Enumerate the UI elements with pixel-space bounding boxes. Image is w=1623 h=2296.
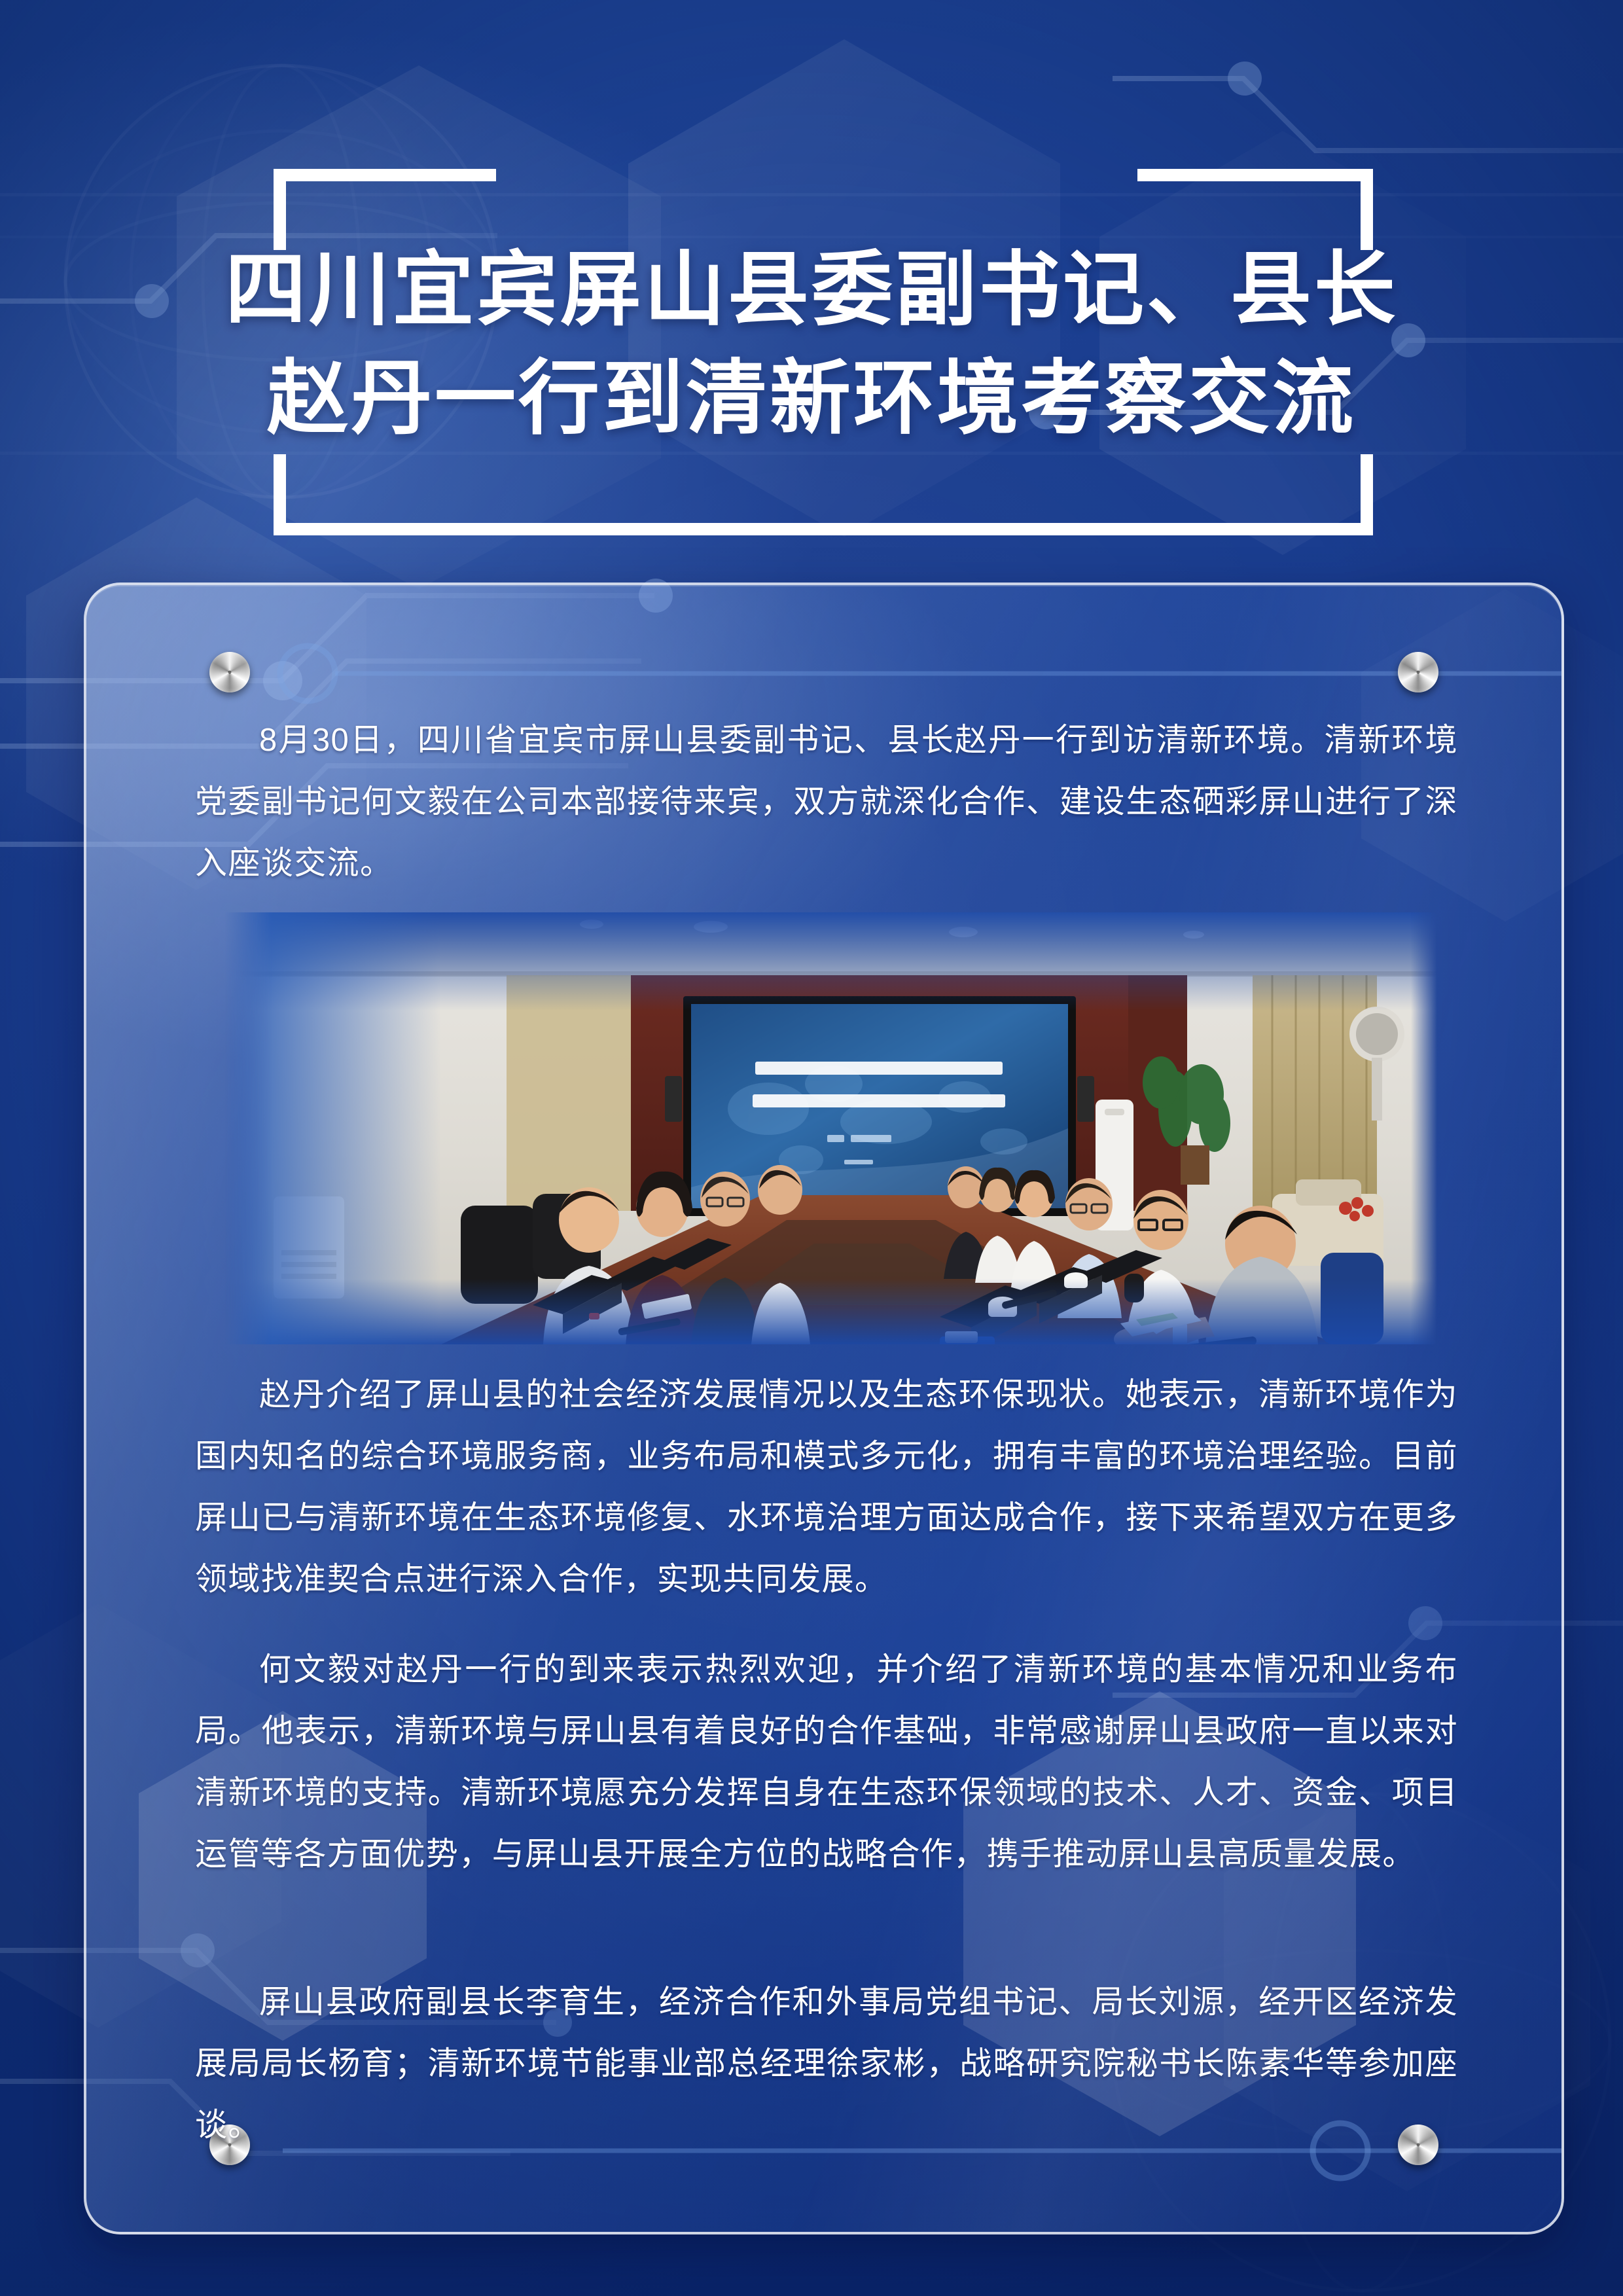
bracket-bottom-left-vertical bbox=[274, 454, 286, 535]
bracket-top-right-horizontal bbox=[1137, 169, 1373, 181]
content-card: 8月30日，四川省宜宾市屏山县委副书记、县长赵丹一行到访清新环境。清新环境党委副… bbox=[84, 583, 1564, 2234]
card-content: 8月30日，四川省宜宾市屏山县委副书记、县长赵丹一行到访清新环境。清新环境党委副… bbox=[86, 585, 1561, 2232]
article-paragraph-2: 赵丹介绍了屏山县的社会经济发展情况以及生态环保现状。她表示，清新环境作为国内知名… bbox=[195, 1364, 1458, 1610]
bracket-bottom-right-vertical bbox=[1361, 454, 1373, 535]
title-line-2: 赵丹一行到清新环境考察交流 bbox=[0, 344, 1623, 453]
article-paragraph-3: 何文毅对赵丹一行的到来表示热烈欢迎，并介绍了清新环境的基本情况和业务布局。他表示… bbox=[195, 1639, 1458, 1885]
meeting-photo-illustration bbox=[225, 912, 1437, 1344]
bracket-top-left-horizontal bbox=[274, 169, 496, 181]
meeting-photo bbox=[225, 912, 1437, 1344]
title-line-1: 四川宜宾屏山县委副书记、县长 bbox=[0, 236, 1623, 344]
poster-title: 四川宜宾屏山县委副书记、县长 赵丹一行到清新环境考察交流 bbox=[0, 236, 1623, 453]
bracket-bottom-horizontal bbox=[274, 523, 1373, 535]
article-paragraph-4: 屏山县政府副县长李育生，经济合作和外事局党组书记、局长刘源，经开区经济发展局局长… bbox=[195, 1971, 1458, 2156]
article-paragraph-1: 8月30日，四川省宜宾市屏山县委副书记、县长赵丹一行到访清新环境。清新环境党委副… bbox=[195, 709, 1458, 894]
poster-header: 四川宜宾屏山县委副书记、县长 赵丹一行到清新环境考察交流 bbox=[0, 0, 1623, 576]
